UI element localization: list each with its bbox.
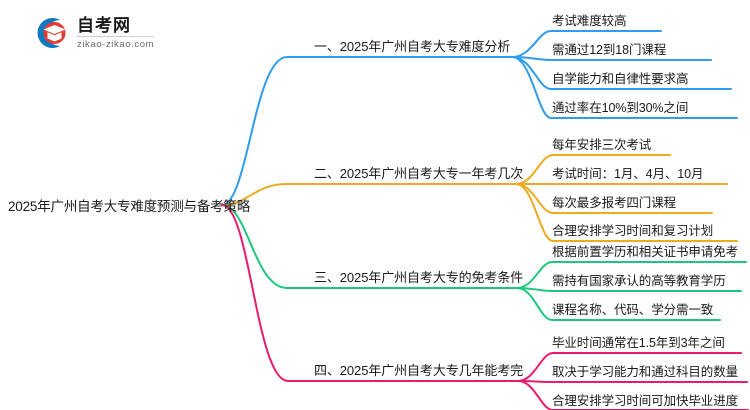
leaf-node-4-3[interactable]: 合理安排学习时间可加快毕业进度 [552,388,738,410]
leaf-node-1-1[interactable]: 考试难度较高 [552,8,626,30]
leaf-3-1-label: 根据前置学历和相关证书申请免考 [552,241,738,260]
logo-domain: zikao-zikao.com [77,37,154,50]
root-to-branch-2-line [222,184,516,205]
leaf-node-1-3[interactable]: 自学能力和自律性要求高 [552,66,688,88]
leaf-1-4-label: 通过率在10%到30%之间 [552,97,688,116]
graduation-cap-logo-icon [30,13,70,53]
leaf-2-3-label: 每次最多报考四门课程 [552,192,676,211]
branch-node-3[interactable]: 三、2025年广州自考大专的免考条件 [314,265,523,287]
branch-4-label: 四、2025年广州自考大专几年能考完 [314,360,523,379]
branch-4-to-leaf-2-line [518,381,747,382]
branch-1-label: 一、2025年广州自考大专难度分析 [314,36,510,55]
root-node-label: 2025年广州自考大专难度预测与备考策略 [8,195,250,215]
leaf-node-2-1[interactable]: 每年安排三次考试 [552,132,651,154]
leaf-node-4-1[interactable]: 毕业时间通常在1.5年到3年之间 [552,330,725,352]
leaf-2-4-label: 合理安排学习时间和复习计划 [552,220,713,239]
leaf-2-2-label: 考试时间：1月、4月、10月 [552,163,703,182]
leaf-4-3-label: 合理安排学习时间可加快毕业进度 [552,390,738,409]
leaf-node-4-2[interactable]: 取决于学习能力和通过科目的数量 [552,359,738,381]
leaf-node-3-1[interactable]: 根据前置学历和相关证书申请免考 [552,239,738,261]
branch-3-label: 三、2025年广州自考大专的免考条件 [314,267,523,286]
leaf-node-1-2[interactable]: 需通过12到18门课程 [552,37,666,59]
branch-2-label: 二、2025年广州自考大专一年考几次 [314,163,523,182]
branch-node-2[interactable]: 二、2025年广州自考大专一年考几次 [314,161,523,183]
leaf-4-1-label: 毕业时间通常在1.5年到3年之间 [552,332,725,351]
branch-node-1[interactable]: 一、2025年广州自考大专难度分析 [314,34,510,56]
leaf-3-3-label: 课程名称、代码、学分需一致 [552,299,713,318]
leaf-node-3-3[interactable]: 课程名称、代码、学分需一致 [552,297,713,319]
leaf-node-2-4[interactable]: 合理安排学习时间和复习计划 [552,218,713,240]
branch-node-4[interactable]: 四、2025年广州自考大专几年能考完 [314,358,523,380]
leaf-1-1-label: 考试难度较高 [552,10,626,29]
logo-title: 自考网 [77,17,154,37]
leaf-1-2-label: 需通过12到18门课程 [552,39,666,58]
leaf-node-2-2[interactable]: 考试时间：1月、4月、10月 [552,161,703,183]
leaf-1-3-label: 自学能力和自律性要求高 [552,68,688,87]
leaf-2-1-label: 每年安排三次考试 [552,134,651,153]
leaf-3-2-label: 需持有国家承认的高等教育学历 [552,270,726,289]
leaf-node-2-3[interactable]: 每次最多报考四门课程 [552,190,676,212]
leaf-4-2-label: 取决于学习能力和通过科目的数量 [552,361,738,380]
root-to-branch-4-line [222,205,518,381]
mindmap-root-node[interactable]: 2025年广州自考大专难度预测与备考策略 [8,193,222,217]
leaf-node-3-2[interactable]: 需持有国家承认的高等教育学历 [552,268,726,290]
leaf-node-1-4[interactable]: 通过率在10%到30%之间 [552,95,688,117]
site-logo: 自考网 zikao-zikao.com [30,10,210,56]
mindmap-canvas: 自考网 zikao-zikao.com [0,0,750,410]
